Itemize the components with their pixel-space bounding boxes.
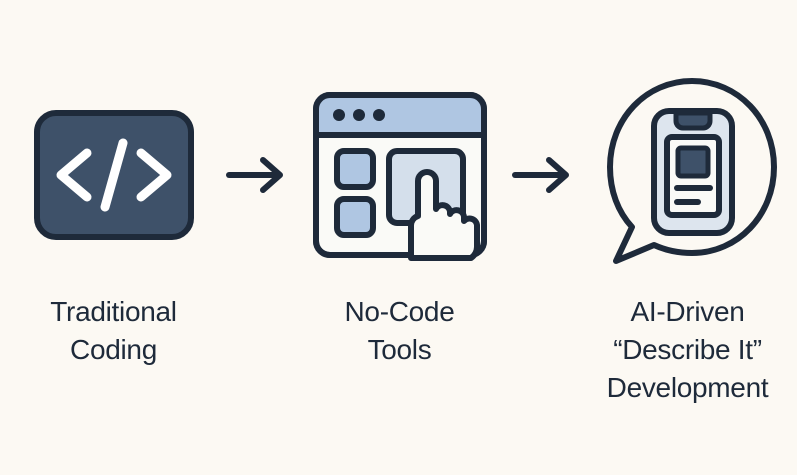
icon-slot-no-code-tools [300, 75, 500, 275]
icon-slot-ai-driven-development [588, 75, 788, 275]
phone-notch [676, 113, 710, 128]
browser-window-cursor-icon [305, 85, 495, 265]
step-ai-driven-development[interactable]: AI-Driven “Describe It” Development [583, 0, 793, 407]
step-label-no-code-tools: No-Code Tools [345, 293, 455, 369]
code-brackets-icon [30, 91, 198, 259]
sidebar-block-2 [337, 199, 373, 235]
connector-arrow-1 [219, 75, 299, 275]
arrow-right-icon [225, 155, 293, 195]
step-traditional-coding[interactable]: Traditional Coding [9, 0, 219, 369]
speech-bubble-phone-icon [588, 75, 788, 275]
step-no-code-tools[interactable]: No-Code Tools [295, 0, 505, 369]
step-label-ai-driven-development: AI-Driven “Describe It” Development [607, 293, 769, 407]
sidebar-block-1 [337, 151, 373, 187]
process-flow: Traditional Coding [0, 0, 797, 475]
content-image-block [678, 148, 708, 176]
window-dots-icon [333, 109, 385, 121]
icon-slot-traditional-coding [14, 75, 214, 275]
step-label-traditional-coding: Traditional Coding [50, 293, 176, 369]
arrow-right-icon [511, 155, 579, 195]
diagram-canvas: Traditional Coding [0, 0, 797, 475]
connector-arrow-2 [505, 75, 585, 275]
